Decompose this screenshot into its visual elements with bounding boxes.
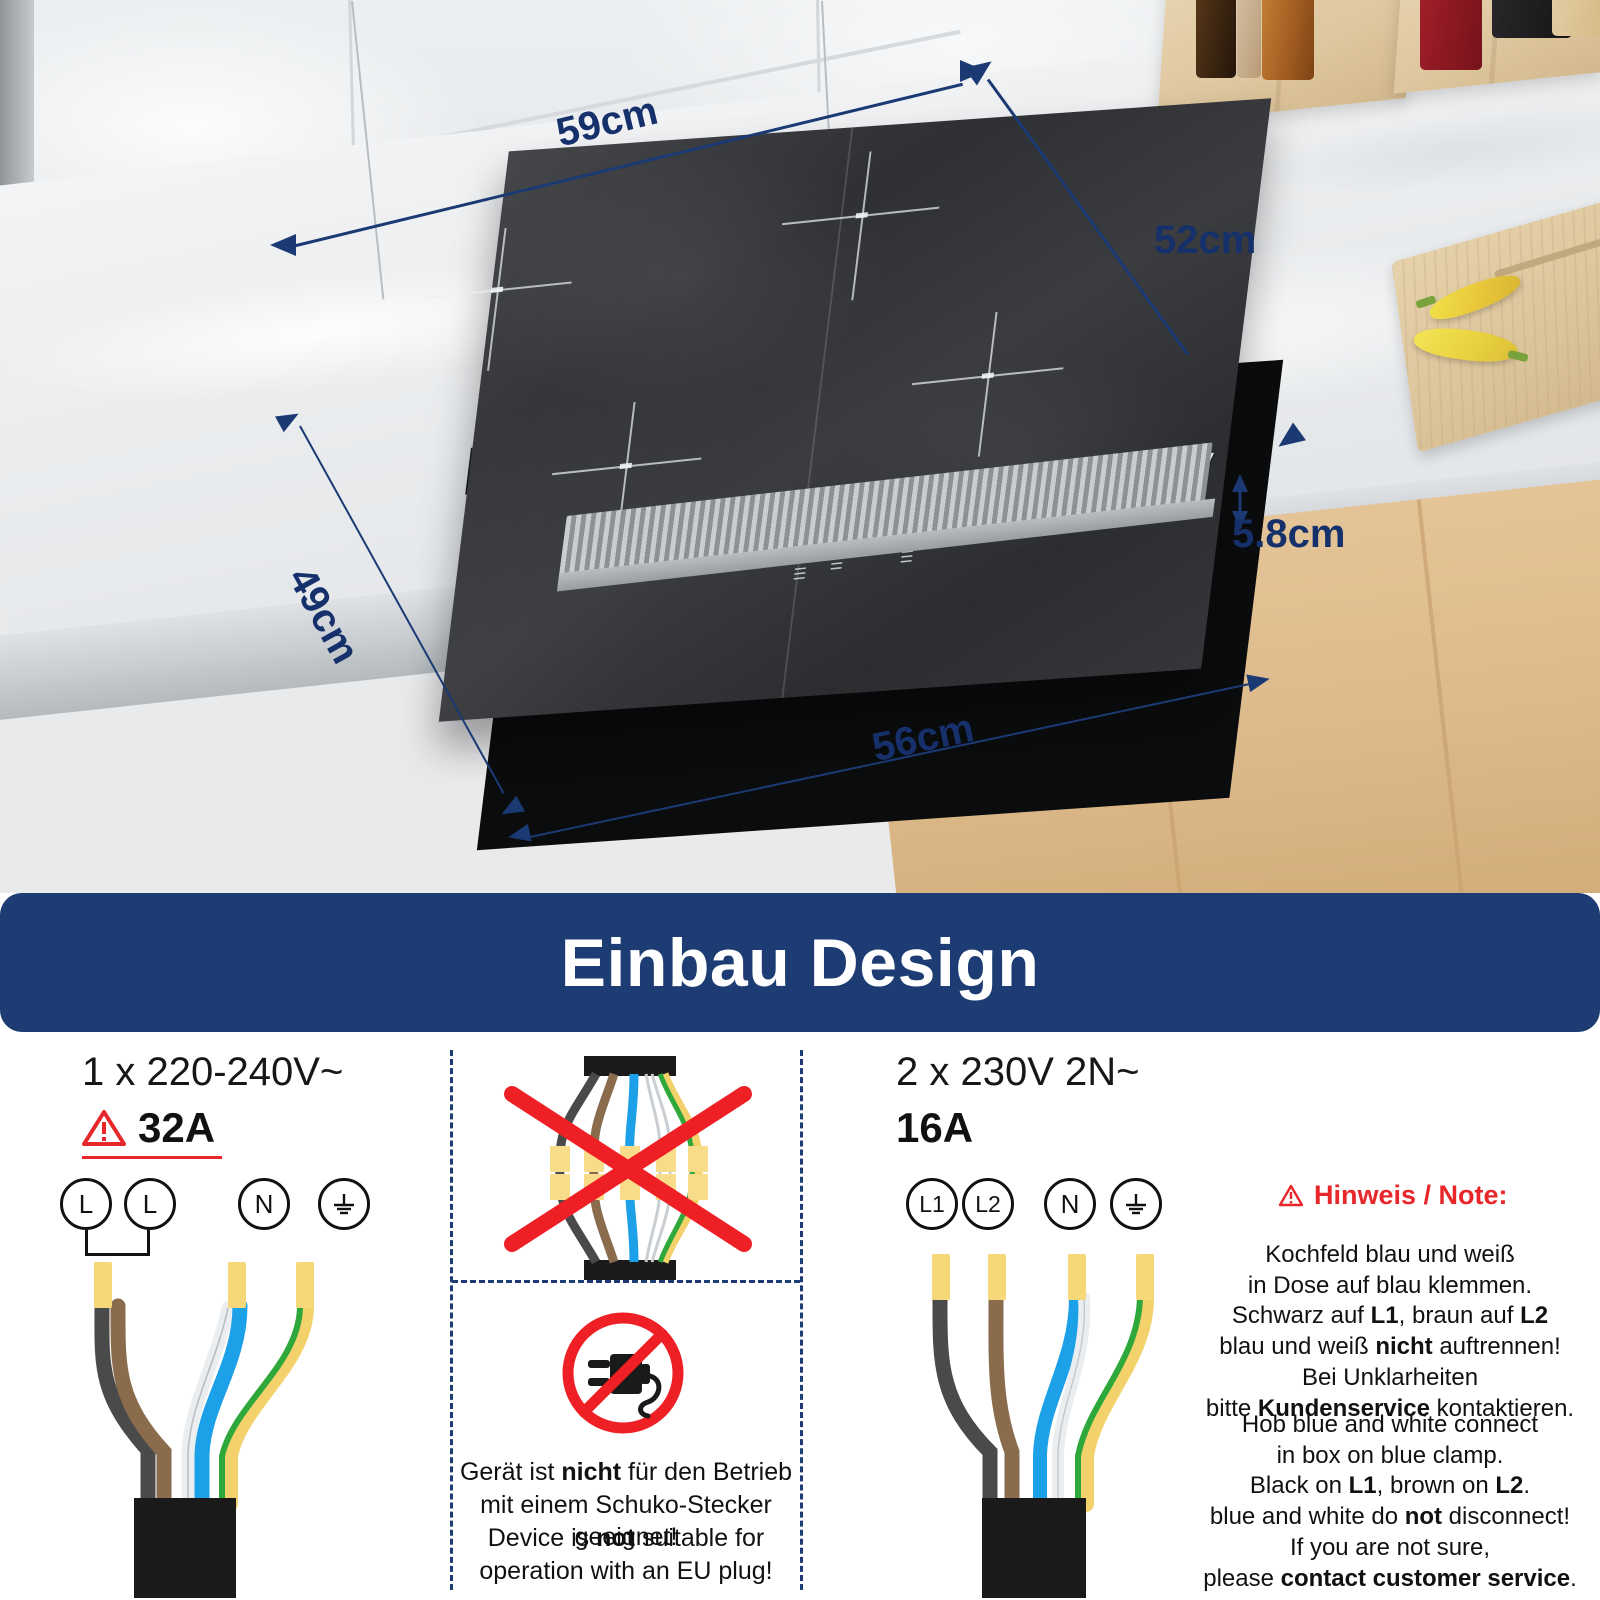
terminal-L-1: L <box>60 1178 112 1230</box>
left-amperage-underline <box>82 1156 222 1159</box>
hob-glass-surface <box>439 98 1271 722</box>
note-de-l4a: blau und weiß <box>1219 1333 1375 1360</box>
caption-en-1c: suitable for <box>635 1524 764 1552</box>
note-de-l3c: , braun auf <box>1399 1302 1520 1329</box>
note-de-l4b: nicht <box>1375 1333 1432 1360</box>
terminal-earth-right <box>1110 1178 1162 1230</box>
note-en-l1: Hob blue and white connect <box>1242 1411 1538 1438</box>
note-de-l3b: L1 <box>1371 1302 1399 1329</box>
note-en-l4c: disconnect! <box>1442 1503 1570 1530</box>
note-de-l5: Bei Unklarheiten <box>1302 1364 1478 1391</box>
right-wire-bundle <box>890 1240 1200 1600</box>
earth-icon-right <box>1121 1189 1151 1219</box>
note-en-l6b: contact customer service <box>1281 1565 1570 1592</box>
note-warning-triangle-icon <box>1278 1184 1304 1208</box>
terminal-N-right-label: N <box>1061 1189 1080 1220</box>
product-photo-scene: ☰ ☰ + + ✚ + + ☰ ○ ‖ ☰ IsEasy 59cm 52cm 4… <box>0 0 1600 893</box>
right-amperage-value: 16A <box>896 1104 973 1152</box>
dim-arrowhead-58-top <box>1232 474 1248 492</box>
warning-triangle-icon <box>82 1109 126 1147</box>
caption-en-1b: not <box>596 1524 635 1552</box>
note-de-l1: Kochfeld blau und weiß <box>1265 1241 1515 1268</box>
earth-icon-left <box>329 1189 359 1219</box>
wiring-diagram-section: 1 x 220-240V~ 32A L L N <box>0 1032 1600 1600</box>
caption-de-1b: nicht <box>561 1458 621 1486</box>
terminal-L1-label: L1 <box>919 1191 945 1218</box>
caption-en-2: operation with an EU plug! <box>479 1557 772 1585</box>
terminal-bridge-LL <box>85 1230 150 1256</box>
caption-en-1a: Device is <box>488 1524 596 1552</box>
right-amperage-row: 16A <box>896 1104 973 1152</box>
terminal-L1: L1 <box>906 1178 958 1230</box>
dim-label-52cm: 52cm <box>1154 218 1256 263</box>
terminal-earth-left <box>318 1178 370 1230</box>
note-de-l4c: auftrennen! <box>1433 1333 1561 1360</box>
note-en-l2: in box on blue clamp. <box>1277 1442 1504 1469</box>
note-body-de: Kochfeld blau und weiß in Dose auf blau … <box>1180 1240 1600 1424</box>
note-en-l4b: not <box>1405 1503 1442 1530</box>
terminal-L-2: L <box>124 1178 176 1230</box>
note-de-l3d: L2 <box>1520 1302 1548 1329</box>
note-heading-text: Hinweis / Note: <box>1314 1180 1508 1211</box>
note-de-l3a: Schwarz auf <box>1232 1302 1371 1329</box>
terminal-N-left-label: N <box>255 1189 274 1220</box>
note-en-l3e: . <box>1523 1472 1530 1499</box>
terminal-L-1-label: L <box>79 1189 93 1220</box>
note-en-l3a: Black on <box>1250 1472 1349 1499</box>
left-wire-bundle <box>40 1254 380 1600</box>
left-amperage-row: 32A <box>82 1104 215 1152</box>
note-heading: Hinweis / Note: <box>1278 1180 1508 1211</box>
note-en-l6c: . <box>1570 1565 1577 1592</box>
left-voltage-label: 1 x 220-240V~ <box>82 1050 343 1095</box>
terminal-L-2-label: L <box>143 1189 157 1220</box>
right-voltage-label: 2 x 230V 2N~ <box>896 1050 1140 1095</box>
note-en-l5: If you are not sure, <box>1290 1534 1490 1561</box>
induction-hob: ☰ ☰ + + ✚ + + ☰ ○ ‖ ☰ IsEasy <box>0 0 1600 893</box>
page-title: Einbau Design <box>561 924 1040 1002</box>
terminal-L2-label: L2 <box>975 1191 1001 1218</box>
note-body-en: Hob blue and white connect in box on blu… <box>1180 1410 1600 1594</box>
terminal-N-left: N <box>238 1178 290 1230</box>
note-en-l3b: L1 <box>1349 1472 1377 1499</box>
terminal-N-right: N <box>1044 1178 1096 1230</box>
note-en-l3d: L2 <box>1495 1472 1523 1499</box>
dim-arrowhead-59-left <box>270 234 296 256</box>
lock-icon[interactable]: ☰ <box>792 564 808 584</box>
divider-center-horizontal <box>452 1280 800 1283</box>
no-eu-plug-icon <box>556 1306 690 1440</box>
caption-de-1c: für den Betrieb <box>621 1458 792 1486</box>
left-amperage-value: 32A <box>138 1104 215 1152</box>
note-en-l3c: , brown on <box>1377 1472 1496 1499</box>
note-en-l4a: blue and white do <box>1210 1503 1405 1530</box>
section-title-band: Einbau Design <box>0 893 1600 1032</box>
crossed-out-wiring-icon <box>488 1056 768 1280</box>
note-en-l6a: please <box>1203 1565 1280 1592</box>
hob-surface-seam <box>781 127 853 698</box>
divider-right <box>800 1050 803 1590</box>
note-de-l2: in Dose auf blau klemmen. <box>1248 1272 1532 1299</box>
center-caption-en: Device is not suitable for operation wit… <box>452 1522 800 1587</box>
dim-label-5-8cm: 5.8cm <box>1232 512 1345 557</box>
caption-de-1a: Gerät ist <box>460 1458 561 1486</box>
terminal-L2: L2 <box>962 1178 1014 1230</box>
